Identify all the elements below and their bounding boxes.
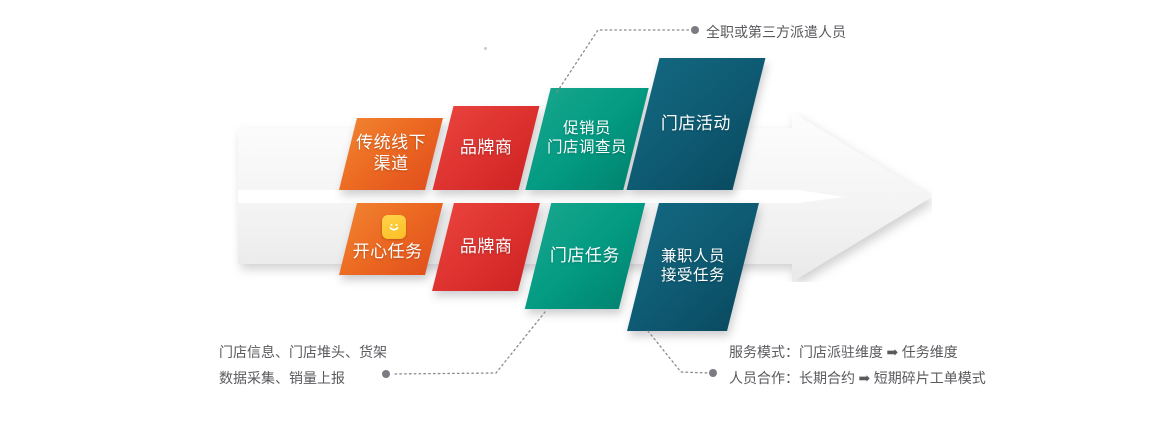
leader-dot-top-right	[691, 26, 699, 34]
smiley-face-icon	[382, 215, 406, 239]
block-label: 品牌商	[460, 237, 513, 258]
annotation-bottom-right: 服务模式：门店派驻维度 ➡ 任务维度 人员合作：长期合约 ➡ 短期碎片工单模式	[729, 341, 986, 393]
leader-line-bottom-left	[392, 312, 545, 374]
block-label: 促销员 门店调查员	[547, 120, 627, 158]
block-label: 兼职人员 接受任务	[661, 248, 725, 286]
annotation-line: 门店信息、门店堆头、货架	[219, 341, 387, 367]
annotation-line: 全职或第三方派遣人员	[706, 21, 846, 47]
annotation-top-right: 全职或第三方派遣人员	[706, 21, 846, 47]
block-traditional-offline-channel[interactable]: 传统线下 渠道	[339, 118, 443, 190]
annotation-bottom-left: 门店信息、门店堆头、货架 数据采集、销量上报	[219, 341, 387, 393]
process-flow-diagram: 传统线下 渠道 品牌商 促销员 门店调查员 门店活动 开心任务 品牌商 门店任务…	[0, 0, 1150, 430]
block-label: 品牌商	[460, 138, 513, 159]
leader-dot-bottom-right	[709, 369, 717, 377]
leader-line-bottom-right	[648, 331, 708, 373]
annotation-line: 服务模式：门店派驻维度 ➡ 任务维度	[729, 341, 986, 367]
annotation-line: 人员合作：长期合约 ➡ 短期碎片工单模式	[729, 367, 986, 393]
block-label: 门店任务	[550, 246, 620, 267]
block-label: 门店活动	[661, 114, 731, 135]
speck-artifact	[484, 47, 487, 50]
block-label: 传统线下 渠道	[356, 133, 426, 174]
annotation-line: 数据采集、销量上报	[219, 367, 387, 393]
block-label: 开心任务	[353, 242, 423, 263]
block-happy-task[interactable]: 开心任务	[339, 203, 443, 275]
